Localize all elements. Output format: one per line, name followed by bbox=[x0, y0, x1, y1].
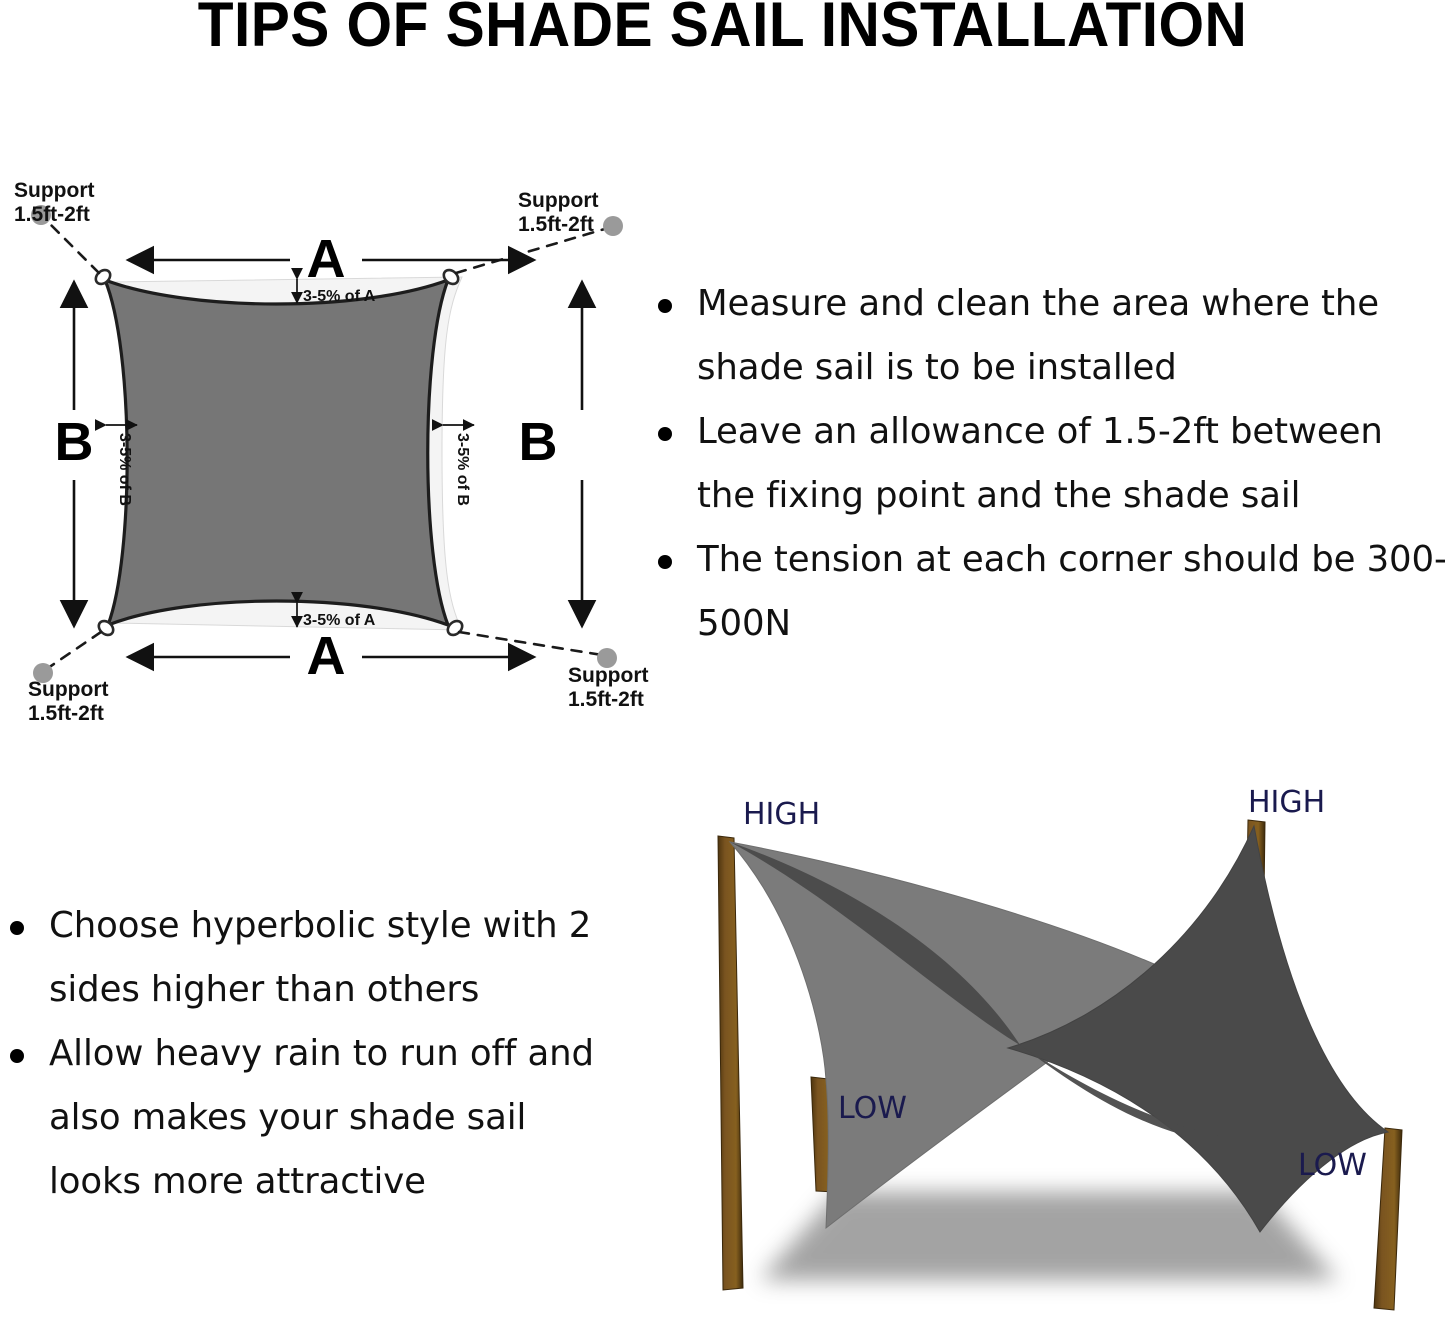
hyperbolic-sail bbox=[730, 826, 1390, 1232]
label-low-left: LOW bbox=[838, 1091, 907, 1126]
hyperbolic-sail-diagram: HIGH HIGH LOW LOW bbox=[648, 780, 1445, 1319]
sag-note-top: 3-5% of A bbox=[303, 288, 376, 305]
list-item: Measure and clean the area where the sha… bbox=[648, 272, 1445, 400]
dim-letter-right: B bbox=[519, 412, 558, 472]
support-label-top-left-line2: 1.5ft-2ft bbox=[14, 203, 90, 226]
support-label-top-right-line2: 1.5ft-2ft bbox=[518, 213, 594, 236]
sail-shape bbox=[105, 277, 462, 630]
sail-fabric bbox=[105, 280, 448, 625]
dim-letter-top: A bbox=[307, 229, 346, 289]
support-line-bottom-left bbox=[48, 632, 101, 668]
hyperbolic-tips-list: Choose hyperbolic style with 2 sides hig… bbox=[0, 894, 620, 1214]
dim-letter-bottom: A bbox=[307, 626, 346, 686]
support-label-bottom-right-line1: Support bbox=[568, 664, 648, 687]
support-label-top-left-line1: Support bbox=[14, 179, 94, 202]
bullet-list-right: Measure and clean the area where the sha… bbox=[648, 272, 1445, 656]
support-label-bottom-left-line1: Support bbox=[28, 678, 108, 701]
support-label-bottom-left-line2: 1.5ft-2ft bbox=[28, 702, 104, 725]
sag-note-left: 3-5% of B bbox=[116, 433, 133, 506]
support-dot-top-right bbox=[603, 216, 623, 236]
support-label-bottom-right-line2: 1.5ft-2ft bbox=[568, 688, 644, 711]
label-low-right: LOW bbox=[1298, 1148, 1367, 1183]
list-item: The tension at each corner should be 300… bbox=[648, 528, 1445, 656]
post-right-low bbox=[1374, 1128, 1402, 1310]
list-item: Choose hyperbolic style with 2 sides hig… bbox=[0, 894, 620, 1022]
sag-note-bottom: 3-5% of A bbox=[303, 612, 376, 629]
shade-sail-dimension-diagram: Support 1.5ft-2ft Support 1.5ft-2ft Supp… bbox=[0, 160, 660, 730]
label-high-left: HIGH bbox=[743, 797, 820, 832]
sag-note-right: 3-5% of B bbox=[454, 433, 471, 506]
list-item: Leave an allowance of 1.5-2ft between th… bbox=[648, 400, 1445, 528]
page-title: TIPS OF SHADE SAIL INSTALLATION bbox=[51, 0, 1395, 57]
dim-letter-left: B bbox=[55, 412, 94, 472]
label-high-right: HIGH bbox=[1248, 785, 1325, 820]
installation-tips-list: Measure and clean the area where the sha… bbox=[648, 272, 1445, 656]
support-label-top-right-line1: Support bbox=[518, 189, 598, 212]
support-line-top-left bbox=[46, 220, 99, 273]
list-item: Allow heavy rain to run off and also mak… bbox=[0, 1022, 620, 1214]
post-left-high bbox=[718, 836, 743, 1290]
bullet-list-bottom: Choose hyperbolic style with 2 sides hig… bbox=[0, 894, 620, 1214]
support-line-bottom-right bbox=[459, 632, 602, 655]
